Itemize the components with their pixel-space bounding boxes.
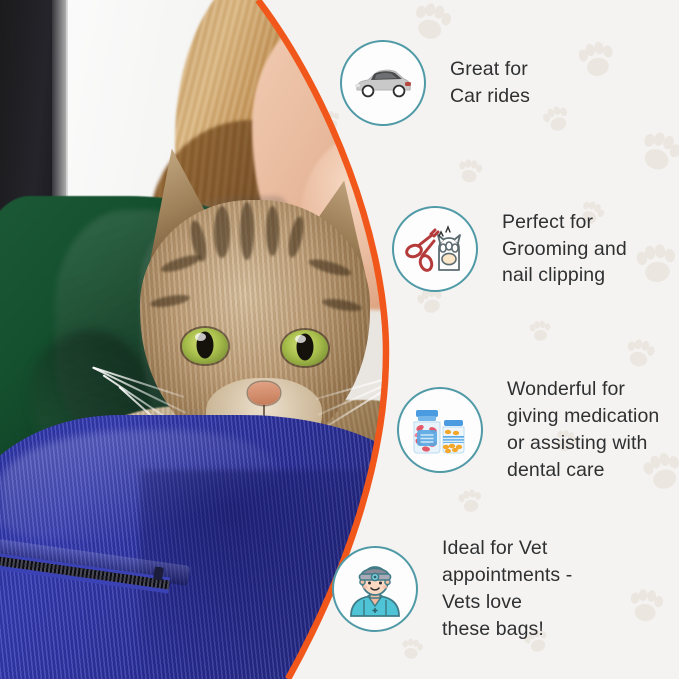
pill-bottles-icon	[409, 402, 471, 458]
feature-label: Perfect for Grooming and nail clipping	[502, 209, 627, 290]
feature-icon-badge	[332, 546, 418, 632]
feature-medication[interactable]: Wonderful for giving medication or assis…	[397, 376, 659, 484]
feature-label: Wonderful for giving medication or assis…	[507, 376, 659, 484]
feature-grooming[interactable]: Perfect for Grooming and nail clipping	[392, 206, 627, 292]
infographic-canvas: Great for Car rides	[0, 0, 679, 679]
feature-vet[interactable]: Ideal for Vet appointments - Vets love t…	[332, 535, 572, 643]
nail-clippers-paw-icon	[405, 223, 465, 275]
veterinarian-icon	[346, 560, 404, 618]
feature-list: Great for Car rides	[0, 0, 679, 679]
feature-label: Ideal for Vet appointments - Vets love t…	[442, 535, 572, 643]
feature-car-rides[interactable]: Great for Car rides	[340, 40, 530, 126]
feature-icon-badge	[392, 206, 478, 292]
feature-label: Great for Car rides	[450, 56, 530, 110]
car-icon	[352, 63, 414, 103]
feature-icon-badge	[397, 387, 483, 473]
feature-icon-badge	[340, 40, 426, 126]
